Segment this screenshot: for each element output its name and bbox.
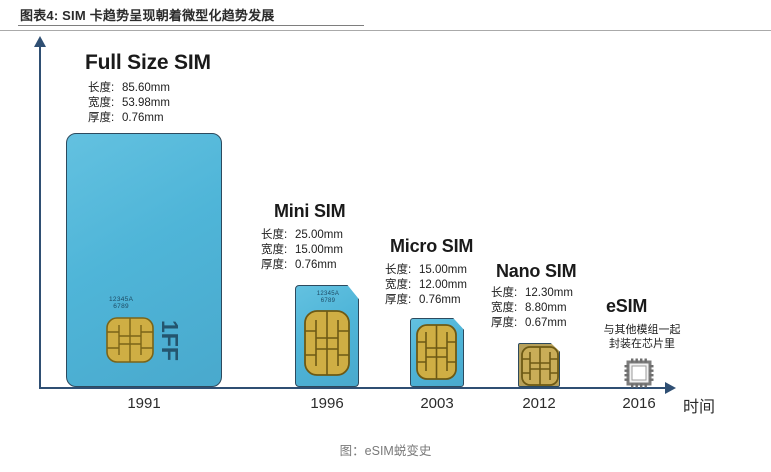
spec-label-thickness: 厚度: [385,293,419,308]
spec-value-width: 12.00mm [419,278,467,293]
sim-title-mini: Mini SIM [274,201,345,222]
sim-card-micro [410,318,464,387]
x-axis-arrowhead [665,382,676,394]
esim-chip-icon [624,358,654,388]
spec-value-thickness: 0.76mm [419,293,461,308]
sim-title-full-size: Full Size SIM [85,51,211,75]
spec-value-length: 85.60mm [122,81,170,96]
spec-label-length: 长度: [88,81,122,96]
sim-specs-micro: 长度:15.00mm 宽度:12.00mm 厚度:0.76mm [385,263,467,308]
sim-specs-nano: 长度:12.30mm 宽度:8.80mm 厚度:0.67mm [491,286,573,331]
y-axis-arrowhead [34,36,46,47]
spec-label-length: 长度: [385,263,419,278]
sim-form-factor-label: 1FF [156,320,183,361]
sim-contact-chip-icon [106,317,154,363]
year-label-1996: 1996 [277,395,377,412]
sim-card-full-size: 12345A 6789 1FF [66,133,222,387]
spec-value-thickness: 0.76mm [122,111,164,126]
spec-value-length: 15.00mm [419,263,467,278]
chart-plot-area: 时间 Full Size SIM 长度:85.60mm 宽度:53.98mm 厚… [0,31,771,431]
spec-label-thickness: 厚度: [261,258,295,273]
spec-label-width: 宽度: [491,301,525,316]
x-axis-line [39,387,667,389]
figure-caption: 图：eSIM蜕变史 [0,440,771,459]
sim-contact-chip-icon [304,310,350,376]
spec-label-length: 长度: [491,286,525,301]
sim-title-nano: Nano SIM [496,261,576,282]
sim-card-mini: 12345A 6789 [295,285,359,387]
y-axis-line [39,45,41,389]
title-underline [18,25,364,26]
sim-contact-chip-icon [416,324,457,380]
esim-description: 与其他模组一起 封装在芯片里 [592,323,692,351]
spec-label-width: 宽度: [88,96,122,111]
figure-header: 图表4: SIM 卡趋势呈现朝着微型化趋势发展 [0,0,771,30]
spec-value-width: 8.80mm [525,301,567,316]
sim-specs-mini: 长度:25.00mm 宽度:15.00mm 厚度:0.76mm [261,228,343,273]
spec-value-length: 12.30mm [525,286,573,301]
sim-card-serial: 12345A 6789 [308,291,348,305]
spec-label-width: 宽度: [385,278,419,293]
sim-specs-full-size: 长度:85.60mm 宽度:53.98mm 厚度:0.76mm [88,81,170,126]
year-label-1991: 1991 [94,395,194,412]
spec-value-thickness: 0.67mm [525,316,567,331]
sim-title-micro: Micro SIM [390,236,473,257]
spec-value-width: 15.00mm [295,243,343,258]
year-label-2003: 2003 [387,395,487,412]
spec-label-thickness: 厚度: [491,316,525,331]
spec-label-width: 宽度: [261,243,295,258]
year-label-2016: 2016 [589,395,689,412]
year-label-2012: 2012 [489,395,589,412]
spec-value-length: 25.00mm [295,228,343,243]
sim-card-serial: 12345A 6789 [109,296,133,310]
spec-value-width: 53.98mm [122,96,170,111]
figure-title: 图表4: SIM 卡趋势呈现朝着微型化趋势发展 [20,5,275,24]
spec-label-thickness: 厚度: [88,111,122,126]
sim-contact-chip-icon [521,346,559,386]
spec-value-thickness: 0.76mm [295,258,337,273]
sim-title-esim: eSIM [606,296,647,317]
spec-label-length: 长度: [261,228,295,243]
sim-card-nano [518,343,560,387]
